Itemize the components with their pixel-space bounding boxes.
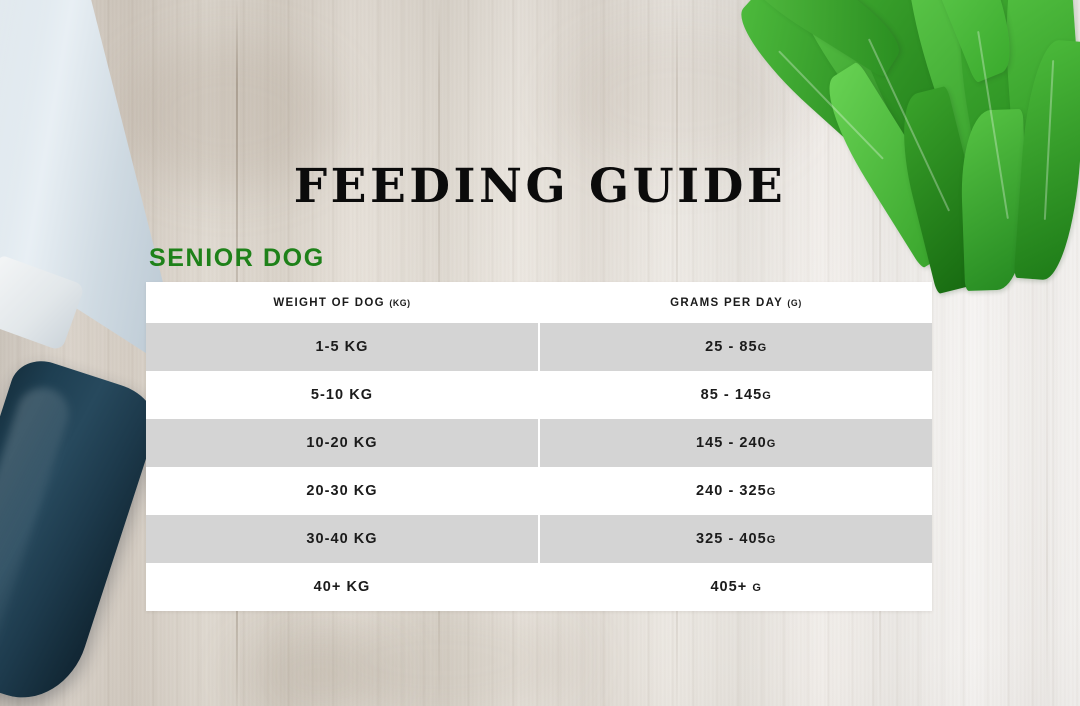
table-row: 1-5 KG 25 - 85G: [146, 323, 932, 371]
table-row: 5-10 KG 85 - 145G: [146, 371, 932, 419]
section-subtitle: SENIOR DOG: [149, 246, 325, 271]
feeding-table: WEIGHT OF DOG (KG) GRAMS PER DAY (G) 1-5…: [146, 282, 932, 611]
cell-grams-unit: G: [767, 486, 776, 498]
cell-grams-unit: G: [758, 342, 767, 354]
cell-weight: 20-30 KG: [146, 467, 539, 515]
cell-grams-unit: G: [767, 438, 776, 450]
cell-grams-value: 25 - 85: [705, 339, 758, 355]
feeding-guide-poster: FEEDING GUIDE SENIOR DOG WEIGHT OF DOG (…: [0, 0, 1080, 706]
column-header-weight: WEIGHT OF DOG (KG): [146, 282, 539, 323]
cell-grams-unit: G: [762, 390, 771, 402]
cell-grams: 405+ G: [539, 563, 932, 611]
cell-grams-unit: G: [767, 534, 776, 546]
cell-weight: 30-40 KG: [146, 515, 539, 563]
column-header-grams: GRAMS PER DAY (G): [539, 282, 932, 323]
table-header: WEIGHT OF DOG (KG) GRAMS PER DAY (G): [146, 282, 932, 323]
cell-grams-value: 240 - 325: [696, 483, 767, 499]
cell-grams-value: 405+: [710, 579, 752, 595]
column-header-grams-unit: (G): [787, 298, 801, 308]
column-header-weight-unit: (KG): [389, 298, 410, 308]
table-row: 10-20 KG 145 - 240G: [146, 419, 932, 467]
table-header-row: WEIGHT OF DOG (KG) GRAMS PER DAY (G): [146, 282, 932, 323]
page-title: FEEDING GUIDE: [0, 163, 1080, 210]
table-row: 40+ KG 405+ G: [146, 563, 932, 611]
cell-weight: 5-10 KG: [146, 371, 539, 419]
cell-grams: 25 - 85G: [539, 323, 932, 371]
cell-weight: 1-5 KG: [146, 323, 539, 371]
cell-grams-unit: G: [752, 582, 761, 594]
cell-weight: 10-20 KG: [146, 419, 539, 467]
column-header-weight-label: WEIGHT OF DOG: [273, 297, 389, 309]
cell-grams: 240 - 325G: [539, 467, 932, 515]
cell-grams: 325 - 405G: [539, 515, 932, 563]
table-body: 1-5 KG 25 - 85G 5-10 KG 85 - 145G 10-20 …: [146, 323, 932, 611]
table-row: 30-40 KG 325 - 405G: [146, 515, 932, 563]
cell-grams: 85 - 145G: [539, 371, 932, 419]
cell-grams: 145 - 240G: [539, 419, 932, 467]
cell-weight: 40+ KG: [146, 563, 539, 611]
table-row: 20-30 KG 240 - 325G: [146, 467, 932, 515]
cell-grams-value: 85 - 145: [701, 387, 763, 403]
column-header-grams-label: GRAMS PER DAY: [670, 297, 787, 309]
cell-grams-value: 145 - 240: [696, 435, 767, 451]
cell-grams-value: 325 - 405: [696, 531, 767, 547]
